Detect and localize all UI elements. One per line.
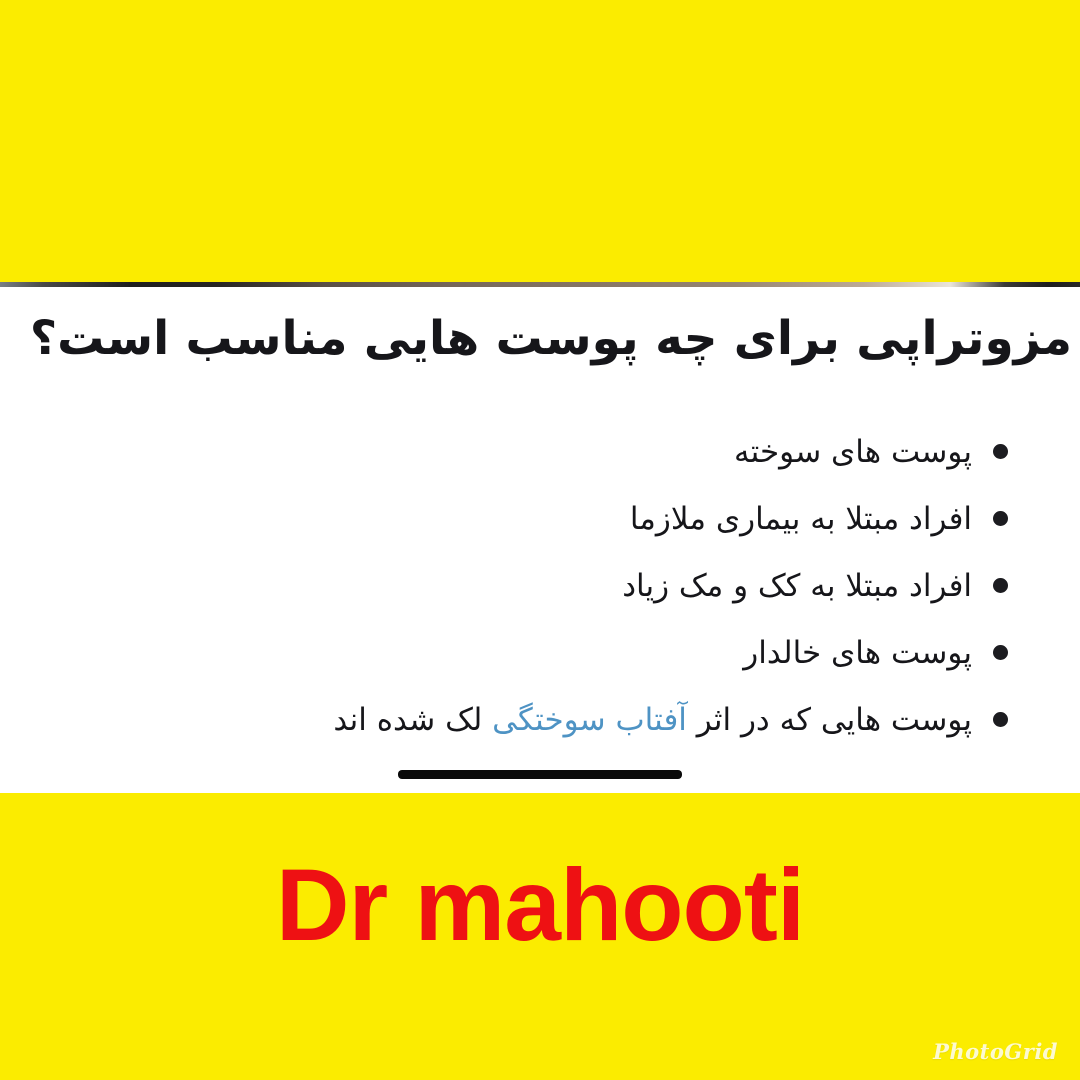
list-item: افراد مبتلا به کک و مک زیاد [0,552,1080,619]
list-item-text-pre: افراد مبتلا به بیماری ملازما [630,501,972,537]
sunburn-link[interactable]: آفتاب سوختگی [492,702,687,738]
section-divider-rule [398,770,682,779]
list-item-text-post: لک شده اند [333,702,492,738]
skin-types-list: پوست های سوخته افراد مبتلا به بیماری ملا… [0,418,1080,753]
bullet-dot-icon [993,511,1008,526]
list-item-label: افراد مبتلا به بیماری ملازما [630,499,972,539]
list-item-text-pre: پوست هایی که در اثر [687,702,972,738]
bullet-dot-icon [993,444,1008,459]
list-item-text-pre: پوست های خالدار [743,635,972,671]
list-item-text-pre: پوست های سوخته [734,434,972,470]
list-item-label: افراد مبتلا به کک و مک زیاد [622,566,972,606]
list-item-label: پوست های خالدار [743,633,972,673]
list-item-label: پوست هایی که در اثر آفتاب سوختگی لک شده … [333,700,972,740]
info-card: مزوتراپی برای چه پوست هایی مناسب است؟ پو… [0,0,1080,1080]
top-yellow-banner [0,0,1080,282]
list-item: افراد مبتلا به بیماری ملازما [0,485,1080,552]
list-item: پوست های خالدار [0,619,1080,686]
bullet-dot-icon [993,578,1008,593]
page-title: مزوتراپی برای چه پوست هایی مناسب است؟ [14,308,1072,370]
list-item-text-pre: افراد مبتلا به کک و مک زیاد [622,568,972,604]
bullet-dot-icon [993,645,1008,660]
list-item-label: پوست های سوخته [734,432,972,472]
list-item: پوست هایی که در اثر آفتاب سوختگی لک شده … [0,686,1080,753]
bullet-dot-icon [993,712,1008,727]
list-item: پوست های سوخته [0,418,1080,485]
photogrid-watermark: PhotoGrid [933,1039,1058,1064]
doctor-signature: Dr mahooti [0,845,1080,965]
